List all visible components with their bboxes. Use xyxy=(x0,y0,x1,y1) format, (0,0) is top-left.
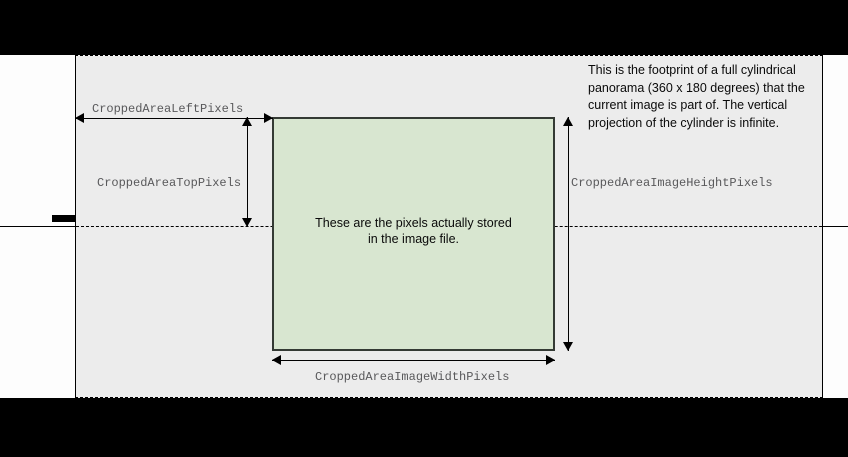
arrow-shaft xyxy=(247,117,248,227)
arrow-head-right-icon xyxy=(264,113,273,123)
stored-image-caption-line2: in the image file. xyxy=(274,231,553,247)
stored-image-region: These are the pixels actually stored in … xyxy=(272,117,555,351)
equator-line-right-extension xyxy=(822,226,848,227)
arrow-shaft xyxy=(272,360,555,361)
stored-image-caption: These are the pixels actually stored in … xyxy=(274,215,553,247)
image-width-dimension-arrow xyxy=(272,355,555,366)
stored-image-caption-line1: These are the pixels actually stored xyxy=(274,215,553,231)
arrow-head-down-icon xyxy=(242,218,252,227)
arrow-head-right-icon xyxy=(546,355,555,365)
equator-line-left-extension xyxy=(0,226,76,227)
label-cropped-area-top-pixels: CroppedAreaTopPixels xyxy=(97,176,241,190)
arrow-head-left-icon xyxy=(75,113,84,123)
label-cropped-area-image-width-pixels: CroppedAreaImageWidthPixels xyxy=(315,370,509,384)
footprint-note: This is the footprint of a full cylindri… xyxy=(588,62,826,132)
panorama-crop-diagram: These are the pixels actually stored in … xyxy=(0,0,848,457)
letterbox-band-top xyxy=(0,0,848,55)
top-pixels-dimension-arrow xyxy=(242,117,253,227)
arrow-head-up-icon xyxy=(563,117,573,126)
arrow-shaft xyxy=(568,117,569,351)
letterbox-band-bottom xyxy=(0,398,848,457)
label-cropped-area-image-height-pixels: CroppedAreaImageHeightPixels xyxy=(571,176,773,190)
image-height-dimension-arrow xyxy=(563,117,574,351)
label-cropped-area-left-pixels: CroppedAreaLeftPixels xyxy=(92,102,243,116)
arrow-head-down-icon xyxy=(563,342,573,351)
arrow-head-left-icon xyxy=(272,355,281,365)
panorama-left-edge-marker xyxy=(52,215,76,222)
arrow-head-up-icon xyxy=(242,117,252,126)
